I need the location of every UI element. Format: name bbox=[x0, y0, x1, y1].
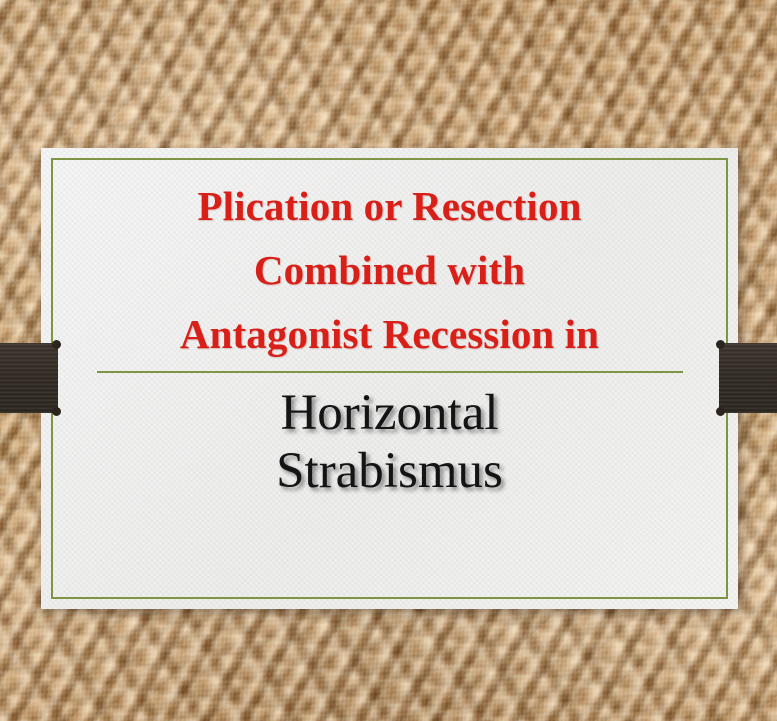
left-bracket-top-nub-icon bbox=[52, 340, 61, 349]
subtitle-line-1: Horizontal bbox=[280, 385, 498, 443]
title-line-2: Combined with bbox=[254, 250, 525, 291]
title-slide: Plication or Resection Combined with Ant… bbox=[0, 0, 777, 721]
left-bracket-bottom-nub-icon bbox=[52, 407, 61, 416]
right-bracket-top-nub-icon bbox=[716, 340, 725, 349]
subtitle-line-2: Strabismus bbox=[276, 443, 503, 501]
title-subtitle-divider bbox=[97, 371, 683, 373]
title-line-3: Antagonist Recession in bbox=[180, 314, 599, 355]
right-bracket-bottom-nub-icon bbox=[716, 407, 725, 416]
slide-content-card: Plication or Resection Combined with Ant… bbox=[41, 148, 738, 609]
right-ribbon-bracket-decoration bbox=[719, 343, 777, 413]
slide-text-block: Plication or Resection Combined with Ant… bbox=[41, 148, 738, 609]
title-line-1: Plication or Resection bbox=[197, 186, 581, 227]
left-ribbon-bracket-decoration bbox=[0, 343, 58, 413]
